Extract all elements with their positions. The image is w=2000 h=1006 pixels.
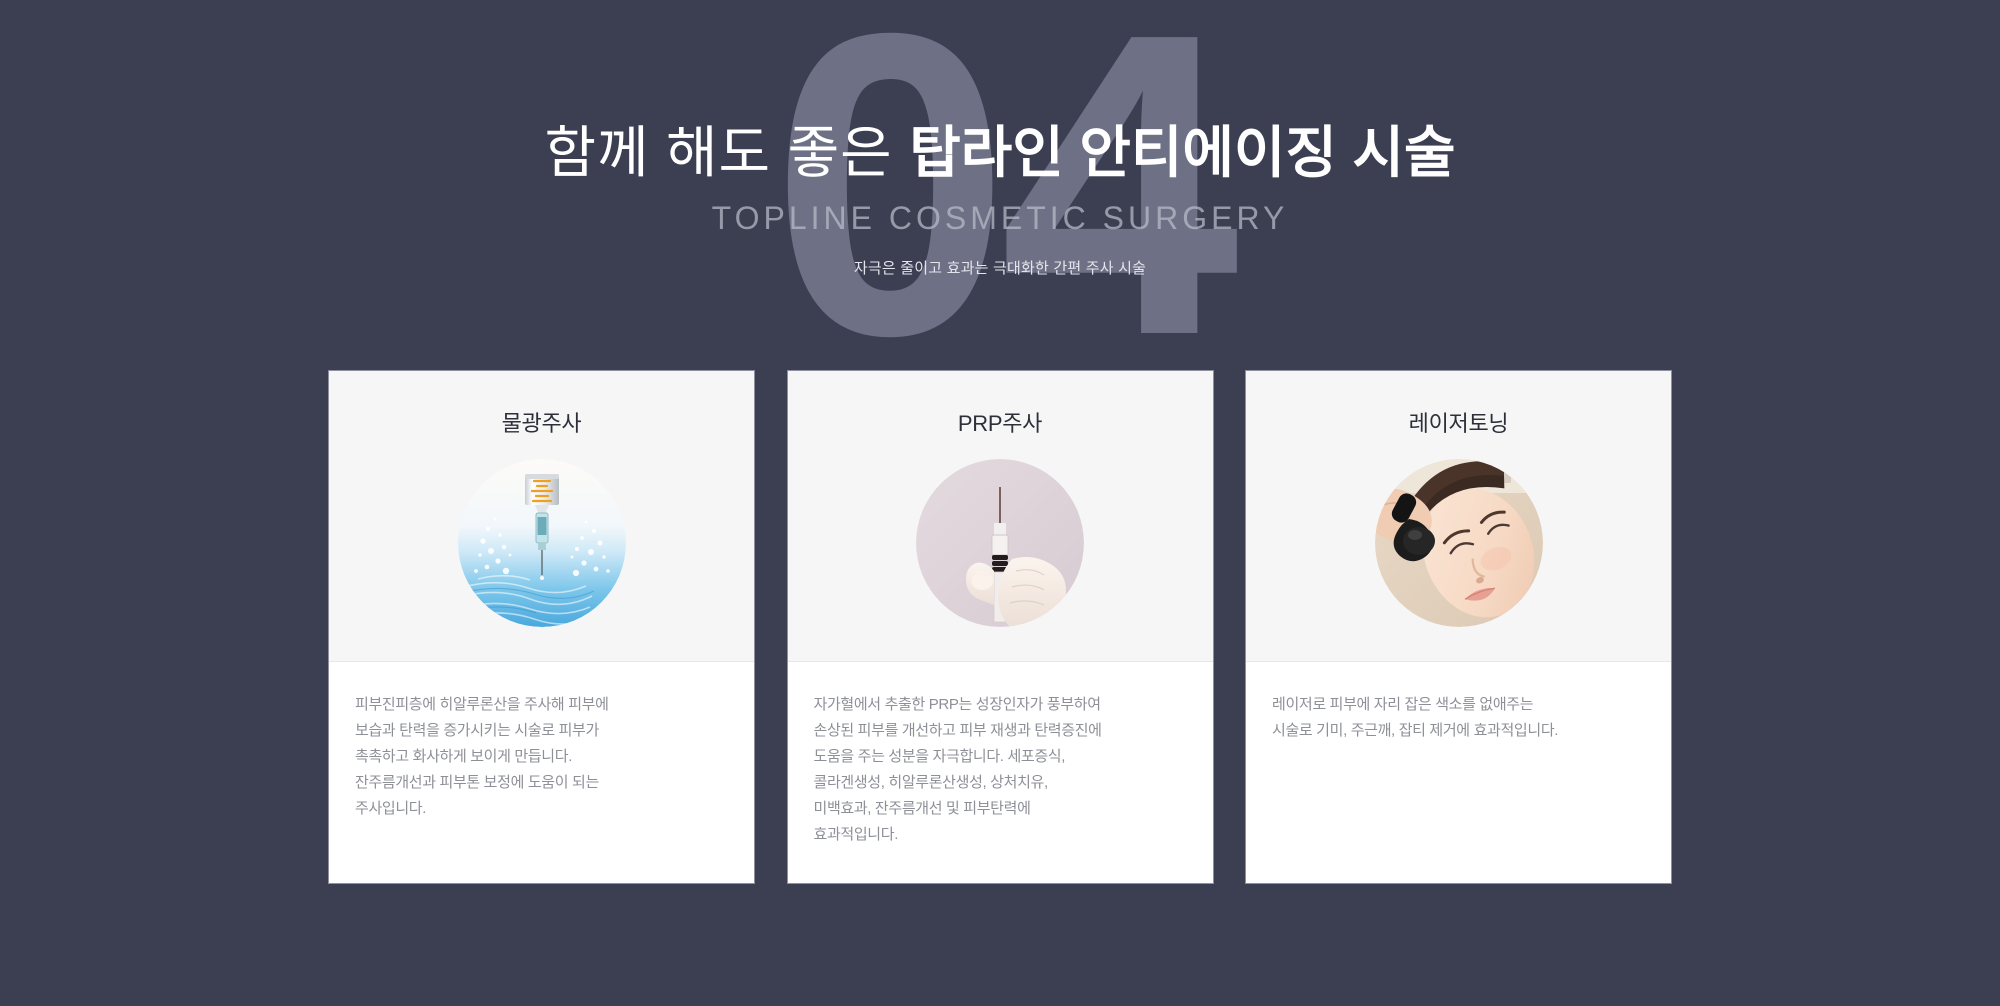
treatment-card[interactable]: 물광주사	[329, 371, 754, 883]
card-body: 피부진피층에 히알루론산을 주사해 피부에 보습과 탄력을 증가시키는 시술로 …	[329, 662, 754, 883]
card-title: 레이저토닝	[1409, 406, 1509, 438]
card-description: 레이저로 피부에 자리 잡은 색소를 없애주는 시술로 기미, 주근깨, 잡티 …	[1272, 692, 1645, 744]
card-description: 피부진피층에 히알루론산을 주사해 피부에 보습과 탄력을 증가시키는 시술로 …	[355, 692, 728, 822]
card-header: 물광주사	[329, 371, 754, 662]
card-description: 자가혈에서 추출한 PRP는 성장인자가 풍부하여 손상된 피부를 개선하고 피…	[814, 692, 1187, 849]
page-title: 함께 해도 좋은 탑라인 안티에이징 시술	[0, 118, 2000, 188]
page-title-light: 함께 해도 좋은	[544, 121, 909, 184]
page-title-bold: 탑라인 안티에이징 시술	[909, 121, 1455, 184]
treatment-card-list: 물광주사	[329, 371, 1671, 883]
card-body: 자가혈에서 추출한 PRP는 성장인자가 풍부하여 손상된 피부를 개선하고 피…	[788, 662, 1213, 883]
treatment-card[interactable]: PRP주사	[788, 371, 1213, 883]
tagline: 자극은 줄이고 효과는 극대화한 간편 주사 시술	[0, 257, 2000, 278]
gloved-hand-syringe-image	[916, 459, 1084, 627]
section-header: 함께 해도 좋은 탑라인 안티에이징 시술 TOPLINE COSMETIC S…	[0, 0, 2000, 278]
card-header: PRP주사	[788, 371, 1213, 662]
card-title: 물광주사	[502, 406, 582, 438]
card-header: 레이저토닝	[1246, 371, 1671, 662]
syringe-water-splash-image	[458, 459, 626, 627]
card-title: PRP주사	[958, 406, 1042, 438]
english-subtitle: TOPLINE COSMETIC SURGERY	[0, 200, 2000, 237]
card-body: 레이저로 피부에 자리 잡은 색소를 없애주는 시술로 기미, 주근깨, 잡티 …	[1246, 662, 1671, 883]
treatment-card[interactable]: 레이저토닝	[1246, 371, 1671, 883]
laser-toning-face-image	[1375, 459, 1543, 627]
